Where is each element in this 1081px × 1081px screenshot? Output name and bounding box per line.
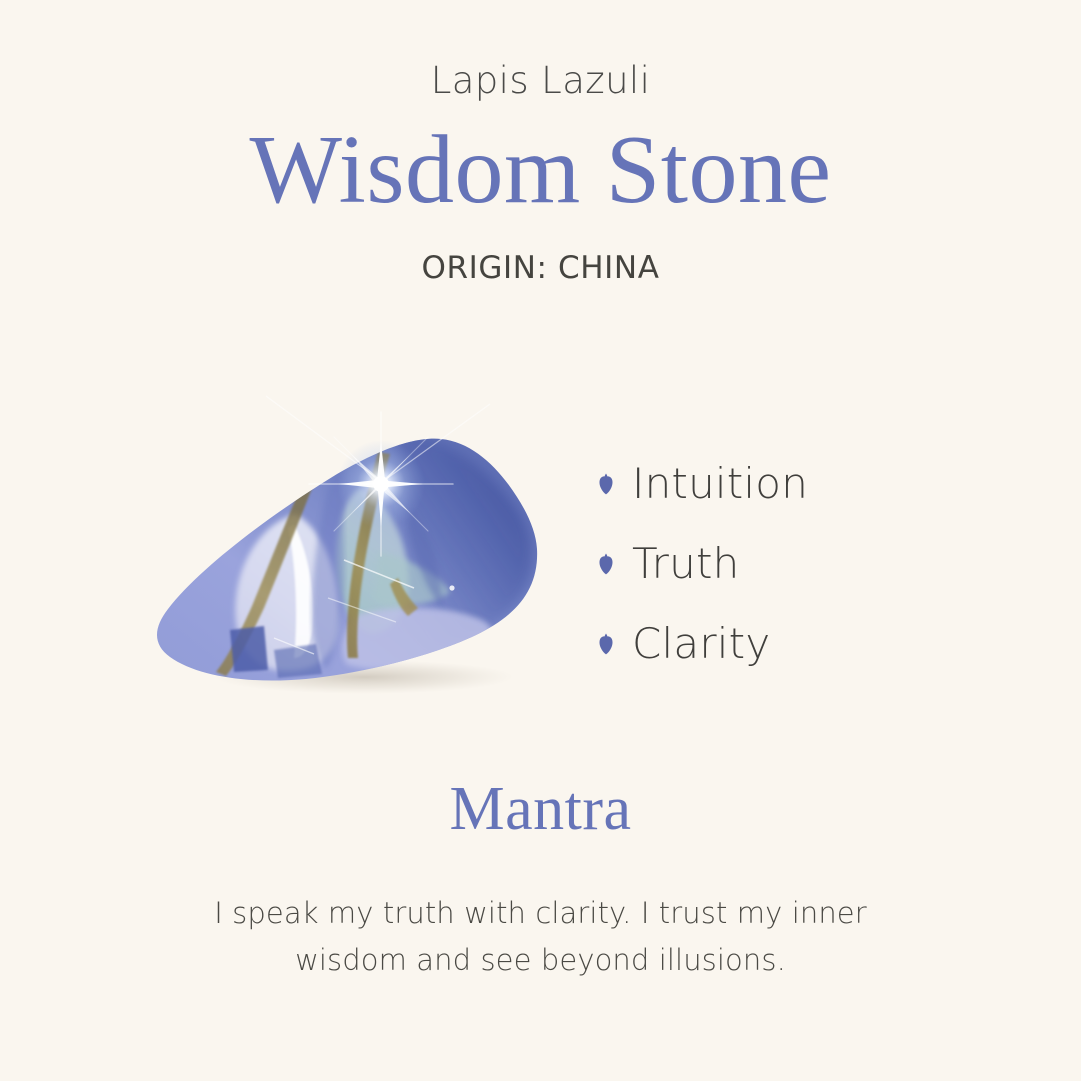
gemstone-svg [146, 392, 566, 722]
property-label: Truth [632, 543, 739, 585]
gemstone-illustration [146, 392, 566, 722]
property-list: Intuition Truth Clarity [598, 444, 918, 684]
property-label: Intuition [632, 463, 808, 505]
origin-label: ORIGIN: CHINA [0, 253, 1081, 284]
gem-bullet-icon [598, 633, 614, 655]
gemstone-info-card: Lapis Lazuli Wisdom Stone ORIGIN: CHINA [0, 0, 1081, 1081]
property-item-intuition[interactable]: Intuition [598, 444, 918, 524]
mantra-text: I speak my truth with clarity. I trust m… [0, 890, 1081, 984]
stone-name-eyebrow: Lapis Lazuli [0, 62, 1081, 99]
property-label: Clarity [632, 623, 770, 665]
card-header: Lapis Lazuli Wisdom Stone ORIGIN: CHINA [0, 0, 1081, 284]
property-item-clarity[interactable]: Clarity [598, 604, 918, 684]
gem-bullet-icon [598, 473, 614, 495]
gem-bullet-icon [598, 553, 614, 575]
page-title: Wisdom Stone [0, 121, 1081, 221]
mantra-section: Mantra I speak my truth with clarity. I … [0, 778, 1081, 984]
mantra-heading: Mantra [0, 778, 1081, 840]
stone-and-properties-section: Intuition Truth Clarity [0, 392, 1081, 732]
property-item-truth[interactable]: Truth [598, 524, 918, 604]
